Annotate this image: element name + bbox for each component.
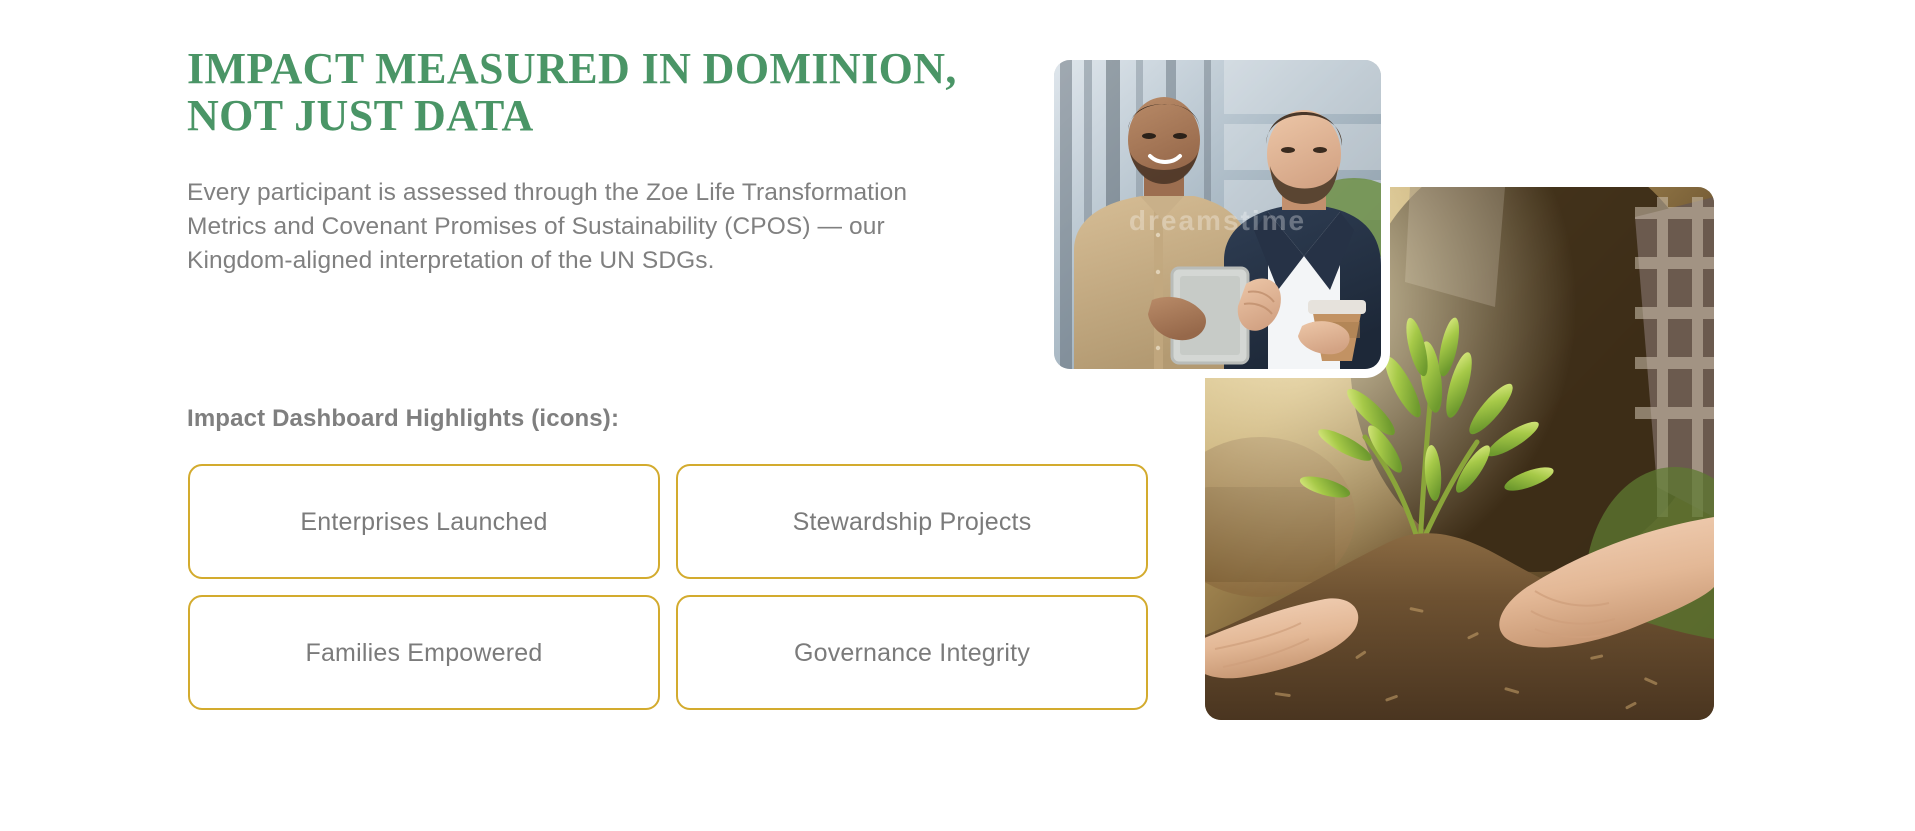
impact-card-grid: Enterprises Launched Stewardship Project… [188,464,1148,710]
section-description: Every participant is assessed through th… [187,176,917,277]
page-title: Impact Measured in Dominion, Not Just Da… [187,46,977,139]
impact-metrics-slide: Impact Measured in Dominion, Not Just Da… [0,0,1915,831]
two-businessmen-with-tablet-photo: dreamstime [1054,60,1381,369]
impact-card-families-empowered[interactable]: Families Empowered [188,595,660,710]
impact-card-label: Governance Integrity [794,638,1030,668]
dashboard-highlights-label: Impact Dashboard Highlights (icons): [187,405,619,433]
impact-card-label: Enterprises Launched [300,507,547,537]
impact-card-stewardship-projects[interactable]: Stewardship Projects [676,464,1148,579]
impact-card-label: Stewardship Projects [793,507,1032,537]
impact-card-governance-integrity[interactable]: Governance Integrity [676,595,1148,710]
impact-card-label: Families Empowered [305,638,542,668]
stock-photo-watermark: dreamstime [1054,205,1381,237]
hands-planting-seedling-photo [1205,187,1714,720]
impact-card-enterprises-launched[interactable]: Enterprises Launched [188,464,660,579]
text-column: Impact Measured in Dominion, Not Just Da… [187,46,987,278]
